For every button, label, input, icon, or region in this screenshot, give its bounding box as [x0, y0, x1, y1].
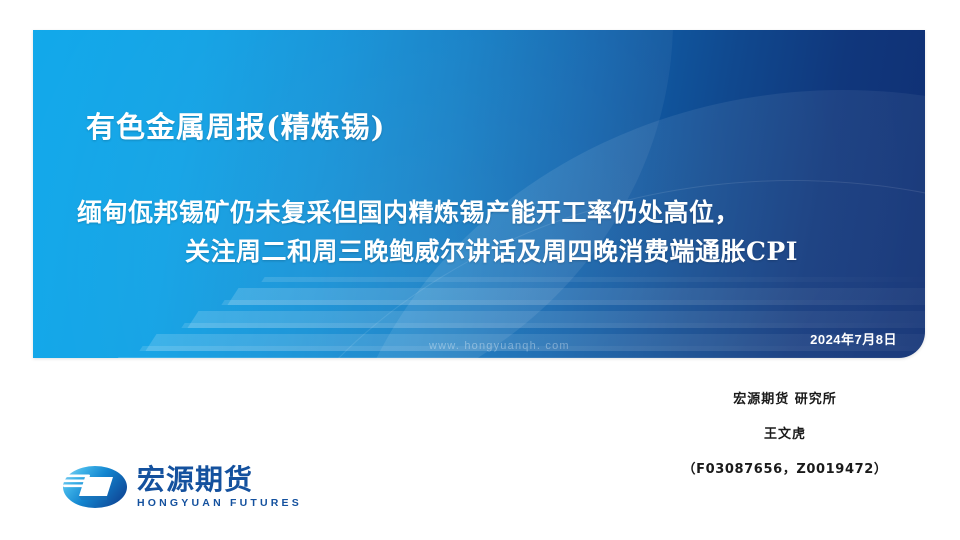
stripe-band-4: [107, 357, 925, 358]
stripe-thin-1: [261, 277, 925, 282]
hongyuan-logo-icon: [62, 463, 128, 511]
credits-author: 王文虎: [640, 423, 930, 442]
report-subtitle: 缅甸佤邦锡矿仍未复采但国内精炼锡产能开工率仍处高位， 关注周二和周三晚鲍威尔讲话…: [77, 193, 925, 271]
cover-banner: 有色金属周报(精炼锡) 缅甸佤邦锡矿仍未复采但国内精炼锡产能开工率仍处高位， 关…: [33, 30, 925, 358]
site-watermark: www. hongyuanqh. com: [429, 340, 570, 352]
report-title: 有色金属周报(精炼锡): [86, 104, 385, 146]
stripe-thin-3: [181, 323, 925, 328]
report-subtitle-line-1: 缅甸佤邦锡矿仍未复采但国内精炼锡产能开工率仍处高位，: [77, 198, 740, 227]
credits-license: （F03087656，Z0019472）: [640, 458, 930, 477]
logo-wordmark: 宏源期货 HONGYUAN FUTURES: [137, 465, 302, 510]
credits-institution: 宏源期货 研究所: [640, 388, 930, 407]
report-date: 2024年7月8日: [810, 329, 897, 348]
logo-name-en: HONGYUAN FUTURES: [137, 496, 302, 510]
stripe-band-1: [227, 288, 925, 305]
logo-name-cn: 宏源期货: [137, 465, 302, 495]
stripe-thin-2: [221, 300, 925, 305]
company-logo: 宏源期货 HONGYUAN FUTURES: [62, 463, 302, 511]
report-subtitle-line-2: 关注周二和周三晚鲍威尔讲话及周四晚消费端通胀CPI: [77, 232, 925, 271]
credits-block: 宏源期货 研究所 王文虎 （F03087656，Z0019472）: [640, 388, 930, 477]
stripe-band-2: [187, 311, 925, 328]
